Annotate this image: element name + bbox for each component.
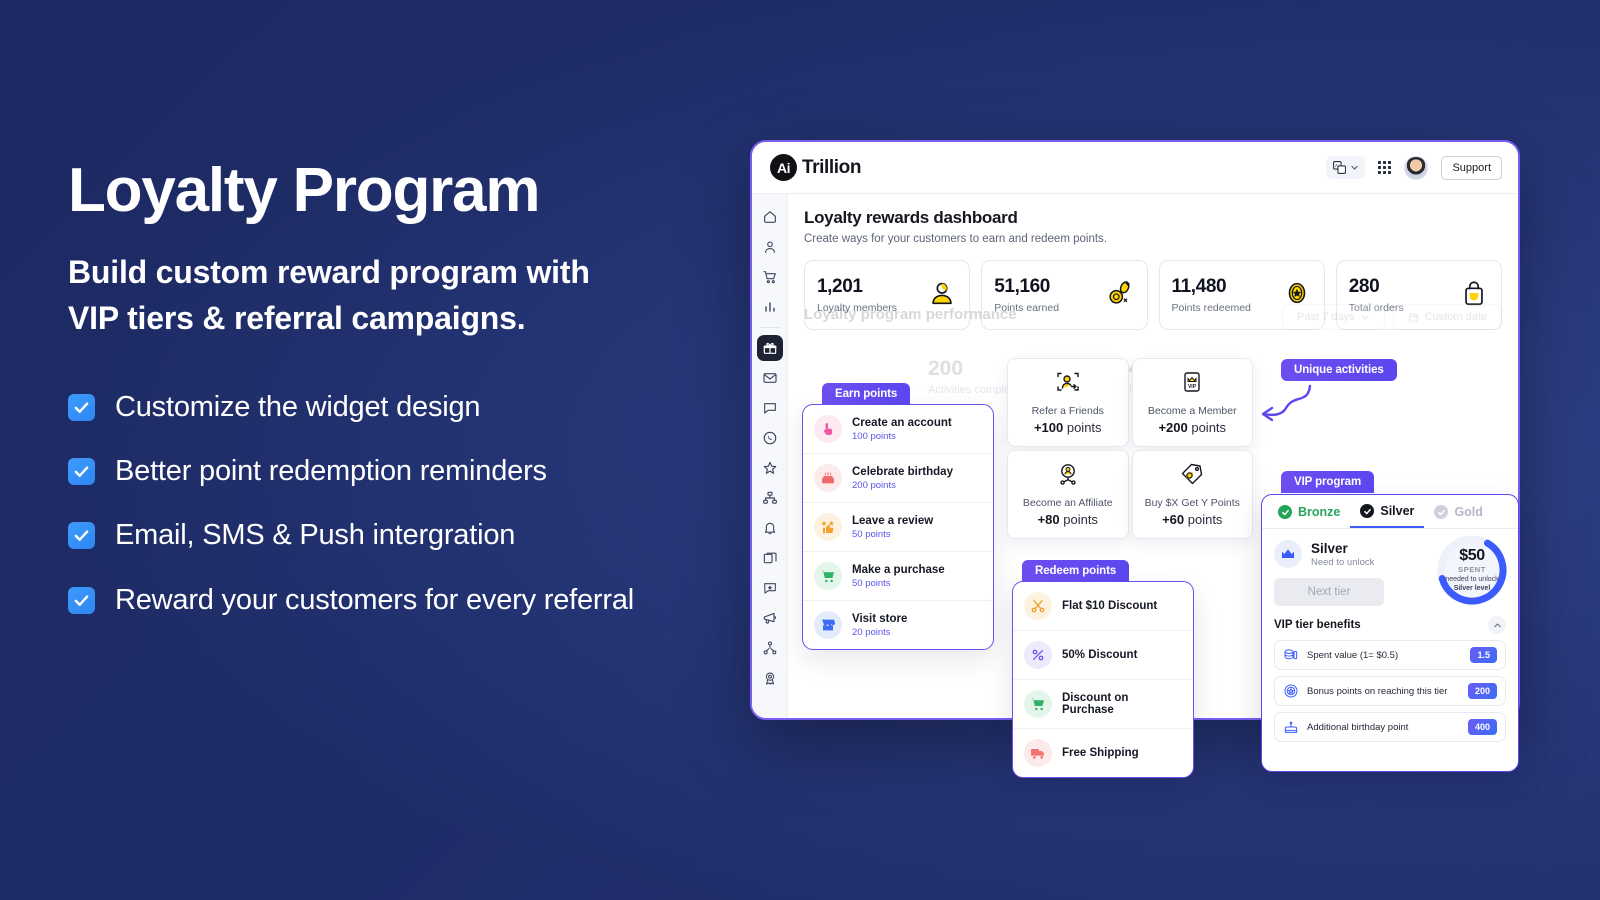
check-circle-icon <box>1278 505 1292 519</box>
activity-points: 20 points <box>852 627 907 638</box>
activity-label: Become a Member <box>1139 405 1247 417</box>
list-item[interactable]: Flat $10 Discount <box>1013 582 1193 631</box>
sidebar-item-reviews[interactable] <box>757 455 783 481</box>
list-item[interactable]: 50% Discount <box>1013 631 1193 680</box>
sidebar-item-pages[interactable] <box>757 545 783 571</box>
activity-title: Visit store <box>852 613 907 625</box>
sidebar-item-home[interactable] <box>757 204 783 230</box>
stat-label: Total orders <box>1349 302 1404 314</box>
points-value: +100 <box>1034 420 1063 435</box>
unique-activity-card[interactable]: Refer a Friends +100 points <box>1007 358 1129 447</box>
activity-label: Refer a Friends <box>1014 405 1122 417</box>
checkbox-checked-icon <box>68 394 95 421</box>
points-value: +200 <box>1158 420 1187 435</box>
tab-label: Gold <box>1454 505 1482 519</box>
feature-list: Customize the widget design Better point… <box>68 388 708 619</box>
benefit-badge: 1.5 <box>1470 647 1497 663</box>
list-item: Email, SMS & Push intergration <box>68 516 708 554</box>
sidebar-item-chat[interactable] <box>757 395 783 421</box>
activity-label: Become an Affiliate <box>1014 497 1122 509</box>
svg-text:VIP: VIP <box>1188 384 1197 390</box>
stat-label: Loyalty members <box>817 302 897 314</box>
sidebar-item-badges[interactable] <box>757 665 783 691</box>
sidebar-item-customers[interactable] <box>757 234 783 260</box>
reward-title: Flat $10 Discount <box>1062 600 1157 612</box>
checkbox-checked-icon <box>68 522 95 549</box>
benefit-badge: 200 <box>1468 683 1497 699</box>
vip-tabs: Bronze Silver Gold <box>1262 495 1518 529</box>
cake-icon <box>814 464 842 492</box>
click-finger-icon <box>814 415 842 443</box>
vip-program-tag: VIP program <box>1281 471 1374 493</box>
checkbox-checked-icon <box>68 458 95 485</box>
page-title: Loyalty Program <box>68 158 708 223</box>
list-item[interactable]: Celebrate birthday 200 points <box>803 454 993 503</box>
benefits-title: VIP tier benefits <box>1274 619 1361 631</box>
activity-title: Leave a review <box>852 515 933 527</box>
affiliate-icon <box>762 640 778 656</box>
tab-bronze[interactable]: Bronze <box>1268 495 1350 528</box>
feature-label: Reward your customers for every referral <box>115 581 634 619</box>
list-item: Reward your customers for every referral <box>68 581 708 619</box>
cake-outline-icon <box>1283 719 1299 735</box>
feature-label: Email, SMS & Push intergration <box>115 516 515 554</box>
stat-card-points-earned[interactable]: 51,160 Points earned <box>981 260 1147 330</box>
star-icon <box>762 460 778 476</box>
unique-activity-card[interactable]: VIP Become a Member +200 points <box>1132 358 1254 447</box>
activity-points: +200 points <box>1139 420 1247 435</box>
activity-points: 200 points <box>852 480 953 491</box>
tab-label: Bronze <box>1298 505 1340 519</box>
stat-card-total-orders[interactable]: 280 Total orders <box>1336 260 1502 330</box>
next-tier-button[interactable]: Next tier <box>1274 578 1384 606</box>
chevron-down-icon <box>1350 163 1359 172</box>
cart-green-icon <box>1024 690 1052 718</box>
translate-icon: A <box>1332 160 1347 175</box>
sidebar-item-loyalty[interactable] <box>757 335 783 361</box>
stat-label: Points earned <box>994 302 1059 314</box>
unique-activities-grid: Refer a Friends +100 points VIP Become a… <box>1007 358 1253 539</box>
earn-points-tag: Earn points <box>822 383 910 405</box>
vip-tier-name: Silver <box>1311 541 1374 556</box>
coins-stack-icon <box>1283 647 1299 663</box>
truck-icon <box>1024 739 1052 767</box>
dashboard-title: Loyalty rewards dashboard <box>804 208 1502 228</box>
apps-grid-icon[interactable] <box>1378 161 1391 174</box>
marketing-column: Loyalty Program Build custom reward prog… <box>68 158 708 619</box>
earn-points-panel: Create an account 100 points Celebrate b… <box>802 404 994 650</box>
topbar-actions: A Support <box>1326 156 1502 180</box>
sidebar-item-campaigns[interactable] <box>757 605 783 631</box>
activity-points: +60 points <box>1139 512 1247 527</box>
stats-row: 1,201 Loyalty members 51,160 Points earn… <box>804 260 1502 330</box>
bell-icon <box>762 520 778 536</box>
vip-program-panel: Bronze Silver Gold Silver Need to unlock… <box>1261 494 1519 772</box>
activity-points: +80 points <box>1014 512 1122 527</box>
language-switcher-button[interactable]: A <box>1326 156 1365 179</box>
cart-icon <box>762 269 778 285</box>
thumbs-up-icon <box>814 513 842 541</box>
chevron-up-icon[interactable] <box>1488 616 1506 634</box>
benefit-row: Bonus points on reaching this tier 200 <box>1274 676 1506 706</box>
list-item[interactable]: Visit store 20 points <box>803 601 993 649</box>
vip-tier-note: Need to unlock <box>1311 557 1374 568</box>
support-button[interactable]: Support <box>1441 156 1502 180</box>
customer-icon <box>762 239 778 255</box>
feature-label: Better point redemption reminders <box>115 452 547 490</box>
sidebar-item-analytics[interactable] <box>757 294 783 320</box>
list-item[interactable]: Make a purchase 50 points <box>803 552 993 601</box>
review-icon <box>762 580 778 596</box>
points-suffix: points <box>1184 512 1222 527</box>
points-suffix: points <box>1188 420 1226 435</box>
unique-activity-card[interactable]: Become an Affiliate +80 points <box>1007 450 1129 539</box>
stat-value: 1,201 <box>817 276 897 298</box>
stat-card-points-redeemed[interactable]: 11,480 Points redeemed <box>1159 260 1325 330</box>
affiliate-network-icon <box>1055 474 1081 491</box>
benefit-row: Spent value (1= $0.5) 1.5 <box>1274 640 1506 670</box>
arrow-pointer-icon <box>1252 378 1322 428</box>
brand-logo-icon: Ai <box>770 154 797 181</box>
cart-green-icon <box>814 562 842 590</box>
benefit-badge: 400 <box>1468 719 1497 735</box>
coins-icon <box>1105 278 1135 313</box>
home-icon <box>762 209 778 225</box>
ring-need-line1: needed to unlock <box>1445 576 1498 583</box>
store-icon <box>814 611 842 639</box>
svg-text:A: A <box>1336 163 1339 168</box>
pages-icon <box>762 550 778 566</box>
sidebar-item-workflow[interactable] <box>757 485 783 511</box>
list-item[interactable]: Free Shipping <box>1013 729 1193 777</box>
flow-icon <box>762 490 778 506</box>
tab-label: Silver <box>1380 504 1414 518</box>
badge-icon <box>762 670 778 686</box>
points-suffix: points <box>1060 512 1098 527</box>
medal-coin-icon <box>1282 278 1312 313</box>
points-suffix: points <box>1063 420 1101 435</box>
progress-ring-label: $50 SPENT needed to unlock Silver level <box>1435 533 1509 607</box>
points-value: +60 <box>1162 512 1184 527</box>
list-item[interactable]: Discount on Purchase <box>1013 680 1193 729</box>
benefit-label: Bonus points on reaching this tier <box>1307 686 1460 697</box>
tab-gold[interactable]: Gold <box>1424 495 1492 528</box>
dashboard-subtitle: Create ways for your customers to earn a… <box>804 233 1502 245</box>
reward-title: 50% Discount <box>1062 649 1137 661</box>
redeem-points-tag: Redeem points <box>1022 560 1129 582</box>
app-topbar: Ai Trillion A Support <box>752 142 1518 194</box>
crown-icon <box>1274 540 1302 568</box>
sidebar-item-review-badge[interactable] <box>757 575 783 601</box>
unique-activities-tag: Unique activities <box>1281 359 1397 381</box>
activity-title: Make a purchase <box>852 564 945 576</box>
marketing-subheadline: Build custom reward program with VIP tie… <box>68 249 628 342</box>
brand-name: Trillion <box>802 157 861 179</box>
benefits-header: VIP tier benefits <box>1262 606 1518 640</box>
stat-label: Points redeemed <box>1172 302 1251 314</box>
sidebar-item-affiliate[interactable] <box>757 635 783 661</box>
unique-activity-card[interactable]: Buy $X Get Y Points +60 points <box>1132 450 1254 539</box>
activity-label: Buy $X Get Y Points <box>1139 497 1247 509</box>
refer-friend-icon <box>1055 382 1081 399</box>
checkbox-checked-icon <box>68 587 95 614</box>
scissors-icon <box>1024 592 1052 620</box>
ring-need-line2: Silver level <box>1445 584 1498 593</box>
benefit-label: Spent value (1= $0.5) <box>1307 650 1462 661</box>
sidebar-divider <box>759 327 781 328</box>
reward-title: Discount on Purchase <box>1062 692 1182 716</box>
shopping-bag-icon <box>1459 278 1489 313</box>
activity-title: Create an account <box>852 417 952 429</box>
whatsapp-icon <box>762 430 778 446</box>
feature-label: Customize the widget design <box>115 388 480 426</box>
check-circle-icon <box>1360 504 1374 518</box>
list-item: Better point redemption reminders <box>68 452 708 490</box>
list-item[interactable]: Leave a review 50 points <box>803 503 993 552</box>
stat-value: 11,480 <box>1172 276 1251 298</box>
ring-need-text: needed to unlock Silver level <box>1445 575 1498 593</box>
price-tag-icon <box>1179 474 1205 491</box>
sidebar <box>752 194 788 718</box>
benefit-label: Additional birthday point <box>1307 722 1460 733</box>
brand[interactable]: Ai Trillion <box>770 154 861 181</box>
stat-card-loyalty-members[interactable]: 1,201 Loyalty members <box>804 260 970 330</box>
chat-icon <box>762 400 778 416</box>
activity-points: 50 points <box>852 529 933 540</box>
activity-points: 100 points <box>852 431 952 442</box>
bonus-badge-icon <box>1283 683 1299 699</box>
sidebar-item-email[interactable] <box>757 365 783 391</box>
list-item: Customize the widget design <box>68 388 708 426</box>
analytics-icon <box>762 299 778 315</box>
avatar[interactable] <box>1404 156 1428 180</box>
activity-points: 50 points <box>852 578 945 589</box>
redeem-points-panel: Flat $10 Discount 50% Discount Discount … <box>1012 581 1194 778</box>
check-circle-icon <box>1434 505 1448 519</box>
gift-icon <box>762 340 778 356</box>
sidebar-item-whatsapp[interactable] <box>757 425 783 451</box>
sidebar-item-orders[interactable] <box>757 264 783 290</box>
reward-title: Free Shipping <box>1062 747 1139 759</box>
list-item[interactable]: Create an account 100 points <box>803 405 993 454</box>
activity-points: +100 points <box>1014 420 1122 435</box>
sidebar-item-notifications[interactable] <box>757 515 783 541</box>
stat-value: 280 <box>1349 276 1404 298</box>
activity-title: Celebrate birthday <box>852 466 953 478</box>
ring-amount: $50 <box>1459 547 1485 565</box>
user-icon <box>927 278 957 313</box>
stat-value: 51,160 <box>994 276 1059 298</box>
benefit-row: Additional birthday point 400 <box>1274 712 1506 742</box>
points-value: +80 <box>1038 512 1060 527</box>
email-icon <box>762 370 778 386</box>
vip-card-icon: VIP <box>1179 382 1205 399</box>
progress-ring: $50 SPENT needed to unlock Silver level <box>1435 533 1509 607</box>
campaign-icon <box>762 610 778 626</box>
tab-silver[interactable]: Silver <box>1350 495 1424 528</box>
ring-spent-label: SPENT <box>1458 565 1486 574</box>
percent-icon <box>1024 641 1052 669</box>
